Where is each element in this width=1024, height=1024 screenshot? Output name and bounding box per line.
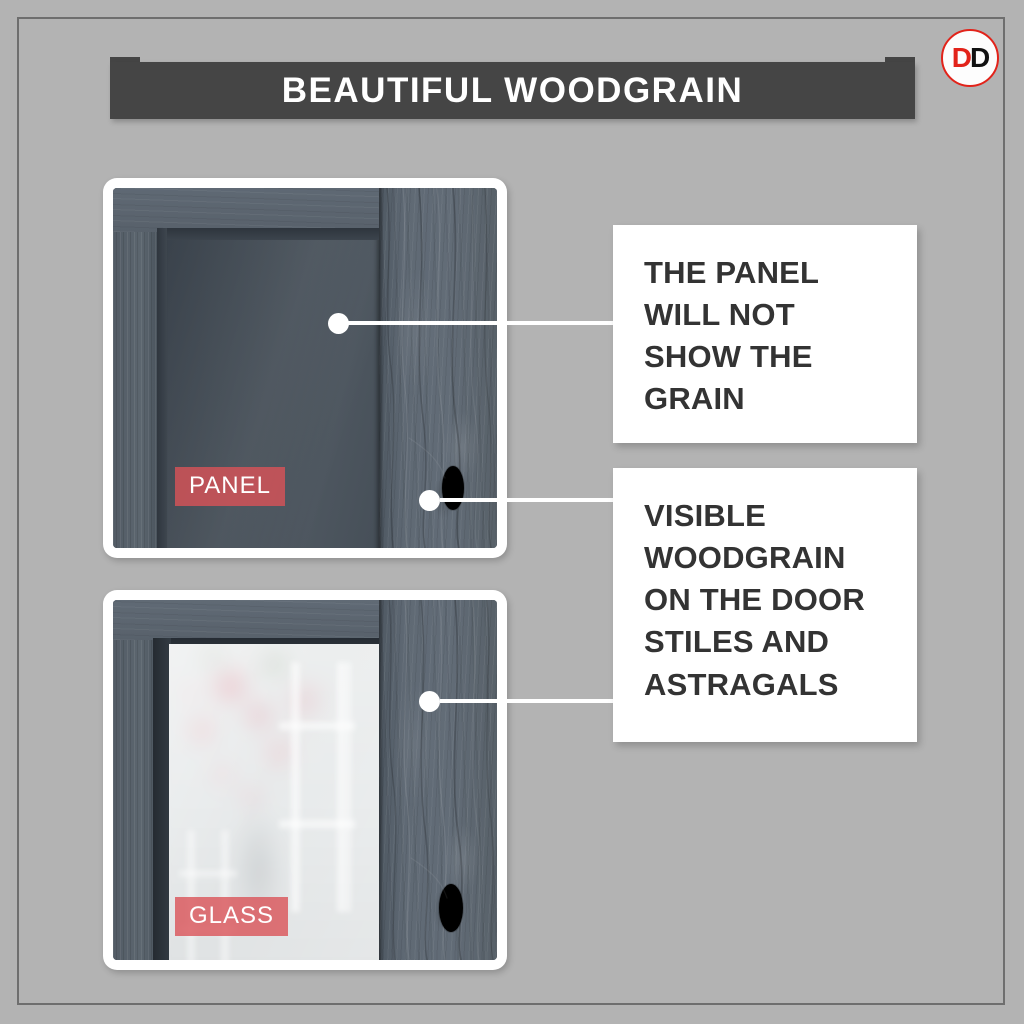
logo-letter-two: D xyxy=(970,44,988,72)
panel-bevel-top xyxy=(157,228,379,240)
connector-woodgrain-2-dot xyxy=(419,691,440,712)
callout-woodgrain-text: VISIBLE WOODGRAIN ON THE DOOR STILES AND… xyxy=(644,495,899,706)
glass-photo-card: GLASS xyxy=(103,590,507,970)
header-ribbon: BEAUTIFUL WOODGRAIN xyxy=(110,62,915,119)
infographic-canvas: DD BEAUTIFUL WOODGRAIN xyxy=(0,0,1024,1024)
door-left-edge xyxy=(113,188,159,548)
page-title: BEAUTIFUL WOODGRAIN xyxy=(110,62,915,119)
glass-caption-tag: GLASS xyxy=(175,897,288,936)
connector-panel xyxy=(340,321,615,325)
callout-woodgrain: VISIBLE WOODGRAIN ON THE DOOR STILES AND… xyxy=(613,468,917,742)
woodgrain-stile-2 xyxy=(379,600,497,960)
callout-panel: THE PANEL WILL NOT SHOW THE GRAIN xyxy=(613,225,917,443)
connector-woodgrain-1 xyxy=(440,498,615,502)
woodgrain-lines-icon-2 xyxy=(379,600,497,960)
callout-panel-text: THE PANEL WILL NOT SHOW THE GRAIN xyxy=(644,252,899,421)
dd-logo: DD xyxy=(941,29,999,87)
panel-caption-tag: PANEL xyxy=(175,467,285,506)
connector-panel-dot xyxy=(328,313,349,334)
connector-woodgrain-2 xyxy=(440,699,615,703)
panel-bevel-left xyxy=(157,228,167,548)
glass-photo: GLASS xyxy=(113,600,497,960)
connector-woodgrain-1-dot xyxy=(419,490,440,511)
panel-photo: PANEL xyxy=(113,188,497,548)
logo-letter-one: D xyxy=(952,44,970,72)
